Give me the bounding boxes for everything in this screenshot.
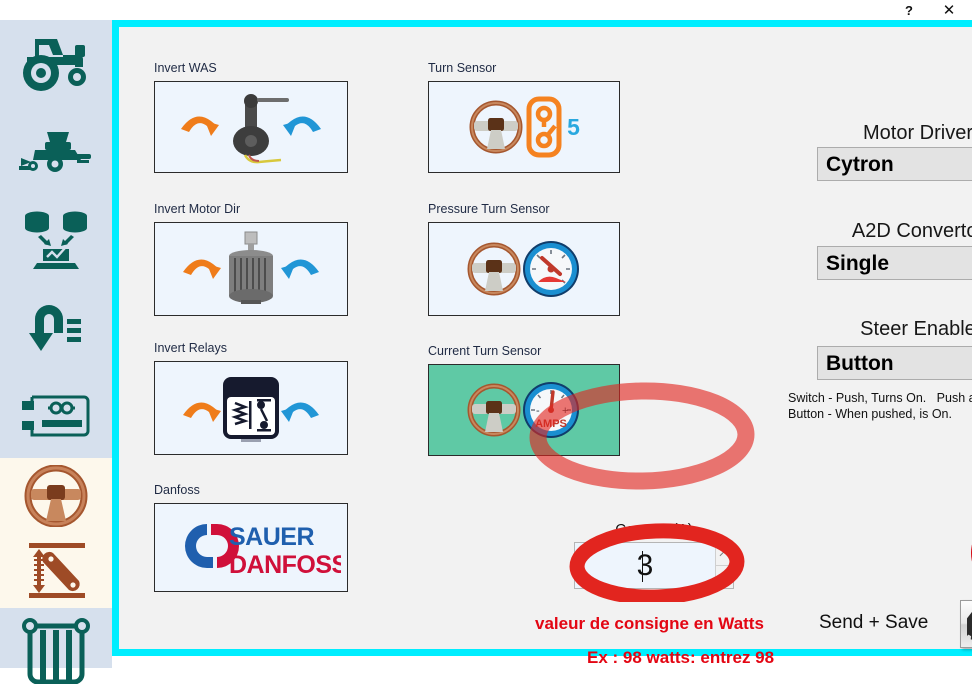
- motor-icon: [161, 226, 341, 312]
- sidebar-item-data-transfer[interactable]: [0, 196, 112, 284]
- dropdown-label-motor-driver: Motor Driver: [788, 122, 972, 145]
- card-invert-relays[interactable]: [154, 361, 348, 455]
- data-transfer-icon: [23, 209, 89, 271]
- card-label-invert-relays: Invert Relays: [154, 341, 227, 355]
- svg-text:+: +: [562, 405, 568, 417]
- sauer-danfoss-logo: SAUER DANFOSS: [161, 510, 341, 586]
- courant-numeric-updown[interactable]: 3: [574, 542, 734, 589]
- card-turn-sensor[interactable]: 5: [428, 81, 620, 173]
- card-label-current-turn-sensor: Current Turn Sensor: [428, 344, 541, 358]
- tractor-icon: [19, 33, 93, 95]
- sidebar-item-uturn[interactable]: [0, 284, 112, 372]
- annotation-note-example: Ex : 98 watts: entrez 98: [587, 648, 774, 668]
- arduino-board-icon: [20, 391, 92, 441]
- svg-text:SAUER: SAUER: [229, 523, 314, 551]
- card-invert-motor-dir[interactable]: [154, 222, 348, 316]
- dropdown-a2d-convertor[interactable]: Single: [817, 246, 972, 280]
- sidebar-highlight-group: [0, 458, 112, 608]
- implement-icon: [17, 128, 95, 176]
- card-label-danfoss: Danfoss: [154, 483, 200, 497]
- pressure-gauge-icon: [466, 238, 582, 300]
- close-icon[interactable]: ✕: [932, 0, 966, 20]
- svg-text:-: -: [536, 405, 540, 417]
- steer-config-panel: Invert WAS Invert Motor Dir: [119, 27, 972, 649]
- send-settings-button[interactable]: [960, 600, 972, 648]
- card-current-turn-sensor[interactable]: - + AMPS: [428, 364, 620, 456]
- card-label-invert-motor-dir: Invert Motor Dir: [154, 202, 240, 216]
- amps-gauge-label: AMPS: [535, 418, 567, 430]
- sidebar-item-vehicle[interactable]: [0, 20, 112, 108]
- sidebar-item-steer-configuration[interactable]: [0, 533, 112, 608]
- dropdown-label-a2d-convertor: A2D Convertor: [788, 220, 972, 243]
- card-label-turn-sensor: Turn Sensor: [428, 61, 496, 75]
- amps-gauge-icon: - + AMPS: [466, 379, 582, 441]
- card-invert-was[interactable]: [154, 81, 348, 173]
- svg-text:DANFOSS: DANFOSS: [229, 551, 341, 579]
- spinner-down-button[interactable]: [716, 566, 733, 588]
- card-label-pressure-turn-sensor: Pressure Turn Sensor: [428, 202, 550, 216]
- courant-input[interactable]: 3: [575, 543, 715, 588]
- dropdown-motor-driver[interactable]: Cytron: [817, 147, 972, 181]
- card-danfoss[interactable]: SAUER DANFOSS: [154, 503, 348, 592]
- card-pressure-turn-sensor[interactable]: [428, 222, 620, 316]
- courant-spinner[interactable]: [715, 543, 733, 588]
- gear-icon: [967, 605, 972, 640]
- sidebar-item-steer-settings[interactable]: [0, 458, 112, 533]
- text-caret: [642, 551, 643, 582]
- relay-box-icon: [161, 365, 341, 451]
- sidebar-item-sections[interactable]: [0, 618, 112, 688]
- steer-angle-sensor-icon: [23, 541, 89, 601]
- annotation-note-watts: valeur de consigne en Watts: [535, 614, 764, 634]
- was-sensor-icon: [161, 85, 341, 169]
- spinner-up-button[interactable]: [716, 543, 733, 566]
- courant-value: 3: [637, 549, 654, 583]
- help-icon[interactable]: ?: [892, 0, 926, 20]
- title-bar: ? ✕: [0, 0, 972, 20]
- dropdown-value-motor-driver: Cytron: [826, 154, 972, 175]
- encoder-count: 5: [567, 114, 580, 141]
- sidebar-item-implement[interactable]: [0, 108, 112, 196]
- steer-enable-hint: Switch - Push, Turns On. Push again, Tur…: [788, 390, 972, 422]
- encoder-switch-icon: 5: [468, 96, 580, 158]
- dropdown-steer-enable[interactable]: Button: [817, 346, 972, 380]
- sidebar: [0, 20, 112, 668]
- dropdown-value-a2d-convertor: Single: [826, 253, 972, 274]
- card-label-invert-was: Invert WAS: [154, 61, 217, 75]
- section-control-icon: [20, 618, 92, 684]
- send-save-label: Send + Save: [819, 612, 928, 634]
- sidebar-item-arduino[interactable]: [0, 372, 112, 460]
- courant-label: Courant (A): [574, 521, 734, 538]
- u-turn-icon: [25, 297, 87, 359]
- dropdown-label-steer-enable: Steer Enable: [788, 318, 972, 341]
- steering-wheel-icon: [23, 465, 89, 527]
- dropdown-value-steer-enable: Button: [826, 353, 972, 374]
